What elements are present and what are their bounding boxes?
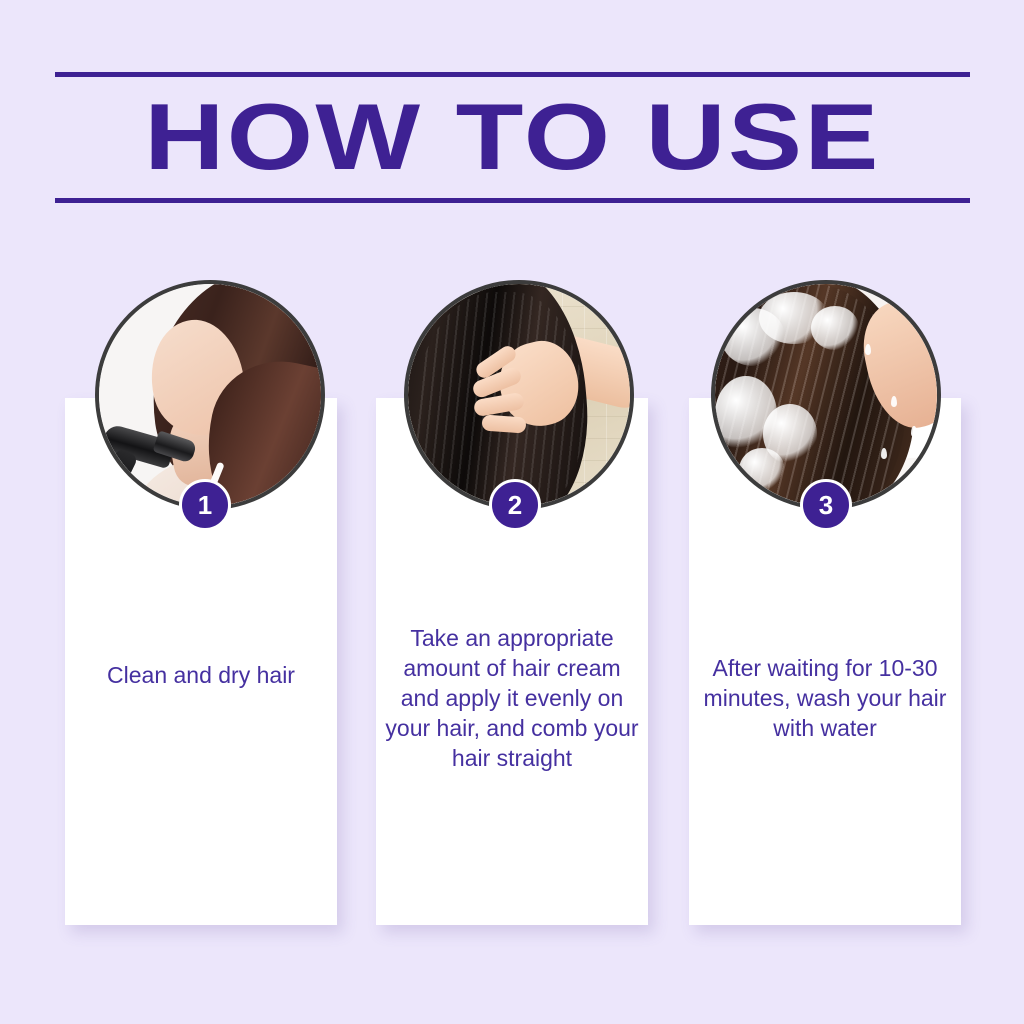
finger-shape: [481, 414, 526, 433]
water-droplet: [865, 344, 871, 355]
title-block: HOW TO USE: [55, 72, 970, 204]
water-droplet: [911, 426, 917, 437]
step-photo-1: [95, 280, 325, 510]
title-bottom-rule: [55, 198, 970, 203]
lather-bubble: [811, 306, 859, 350]
title-top-rule: [55, 72, 970, 77]
step-caption-3: After waiting for 10-30 minutes, wash yo…: [697, 653, 953, 743]
water-droplet: [881, 448, 887, 459]
woman-blow-drying-hair-photo: [99, 284, 321, 506]
step-caption-2: Take an appropriate amount of hair cream…: [384, 623, 640, 773]
step-caption-1: Clean and dry hair: [73, 660, 329, 690]
how-to-use-infographic: HOW TO USE Clean and dry hair 1 Take an …: [0, 0, 1024, 1024]
page-title: HOW TO USE: [0, 78, 1024, 196]
step-photo-3: [711, 280, 941, 510]
step-photo-2: [404, 280, 634, 510]
step-badge-3: 3: [800, 479, 852, 531]
step-badge-2: 2: [489, 479, 541, 531]
hand-applying-cream-to-wet-hair-photo: [408, 284, 630, 506]
washing-hair-with-lather-photo: [715, 284, 937, 506]
water-droplet: [891, 396, 897, 407]
step-badge-1: 1: [179, 479, 231, 531]
lather-bubble: [739, 448, 785, 492]
